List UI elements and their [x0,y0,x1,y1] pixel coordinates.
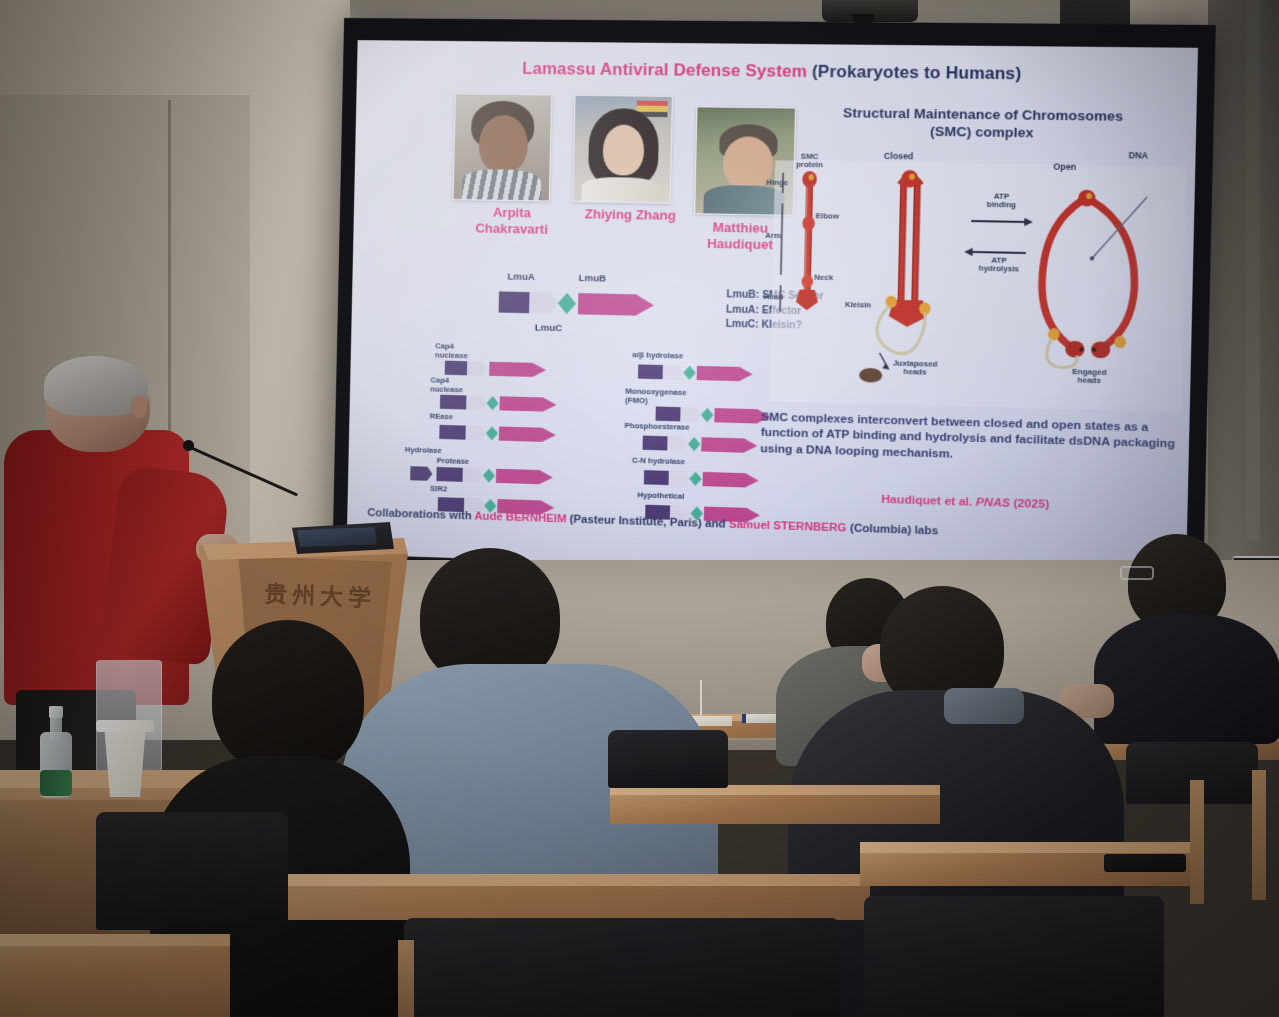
desk-row-edge [0,934,230,946]
presenter-laptop-screen [297,527,377,547]
chair-leg [398,940,414,1017]
operon-variants-left-column: Cap4nuclease Cap4nuclease [403,342,610,523]
speaker-ear [131,396,147,418]
desk-row [610,790,940,824]
citation-year: (2025) [1013,497,1049,512]
gene-label-lmuc: LmuC [535,322,563,334]
chair-leg [1190,780,1204,904]
collab-conjunction: and [705,518,729,531]
operon-variant-label: Phosphoesterase [624,422,689,432]
collab-lab2-affiliation: (Columbia) labs [850,522,939,537]
chair [864,896,1164,1017]
smc-label-atp-hydrolysis: ATPhydrolysis [966,256,1032,275]
chair [96,812,288,930]
slide-citation: Haudiquet et al. PNAS (2025) [759,489,1175,515]
chair [404,918,840,1017]
coffee-cup-lid [96,720,154,732]
operon-variant-label-hydrolase: Hydrolase [405,446,442,456]
smc-label-closed: Closed [884,152,914,162]
smc-label-neck: Neck [814,274,833,283]
right-wall-stripe [1246,0,1260,540]
audience-torso [1094,614,1279,744]
operon-variant-label: Cap4nuclease [430,376,463,394]
gene-segment-lmuc [558,293,577,315]
operon-variant-row: REase [405,410,608,450]
gene-segment-lmua-dark [499,291,530,313]
smc-label-juxtaposed-heads: Juxtaposedheads [885,359,944,378]
operon-variant-label: α/β hydrolase [632,351,683,361]
citation-journal: PNAS [976,495,1011,509]
collab-lab1: Aude BERNHEIM [474,510,566,525]
operon-variant-label: SIR2 [430,485,447,494]
slide-title: Lamassu Antiviral Defense System (Prokar… [357,58,1198,86]
audience-head [212,620,364,774]
lamassu-operon-diagram: LmuA LmuB LmuC [492,271,708,343]
desk-row-edge [860,842,1190,853]
smc-label-head: Head [764,293,784,302]
audience-collar [944,688,1024,724]
smc-label-dna: DNA [1129,151,1149,161]
smc-diagram-svg [761,146,1195,423]
smc-label-engaged-heads: Engagedheads [1059,368,1119,387]
chair-leg [1252,770,1266,900]
drinking-straw [700,680,702,718]
bottle-cap [49,706,63,718]
gene-segment-lmua-light [529,292,558,314]
operon-variant-label: C-N hydrolase [632,457,685,467]
smc-diagram-title: Structural Maintenance of Chromosomes (S… [771,103,1196,144]
operon-variant-label: Cap4nuclease [435,342,468,360]
podium-inscription: 贵州大学 [263,575,415,626]
gene-label-lmua: LmuA [507,271,535,283]
smc-label-smc-protein: SMCprotein [785,152,833,170]
headshot-photo-group [452,93,803,210]
smc-label-atp-binding: ATPbinding [971,192,1031,210]
slide-body-paragraph: SMC complexes interconvert between close… [760,409,1176,468]
desk-tablet [1104,854,1186,872]
right-wall-dark-panel [1208,0,1279,560]
smc-label-kleisin: Kleisin [845,301,871,310]
desk-row [0,940,230,1017]
collab-prefix: Collaborations with [367,507,474,522]
operon-variant-row: Cap4nuclease [406,376,609,416]
citation-authors: Haudiquet et al. [881,493,972,509]
operon-variant-row: Hydrolase Protease [404,444,608,488]
headshot-photo [453,93,553,201]
operon-variant-label: Protease [437,457,470,467]
operon-variant-label: Hypothetical [637,491,684,501]
audience-glasses [1120,566,1154,580]
slide-content: Lamassu Antiviral Defense System (Prokar… [346,40,1198,583]
water-bottle [40,706,72,798]
operon-variant-label: Monooxygenase(FMO) [625,387,687,406]
microphone-head [183,440,194,451]
slide-title-navy: (Prokaryotes to Humans) [812,63,1022,84]
smc-label-elbow: Elbow [815,212,839,221]
bottle-label [40,770,72,796]
slide-title-pink: Lamassu Antiviral Defense System [522,60,807,81]
headshot-photo [572,95,673,204]
gene-label-lmub: LmuB [579,273,607,285]
smc-complex-diagram: SMCprotein Hinge Elbow Arm Neck Head Clo… [761,146,1195,423]
gene-segment-lmub [578,293,654,316]
smc-label-hinge: Hinge [766,179,788,188]
smc-label-arm: Arm [765,232,781,241]
desk-nameplate [742,714,776,723]
collaborator-name: Arpita Chakravarti [456,204,568,238]
chair [608,730,728,788]
operon-variant-label: REase [430,413,454,422]
projection-screen: Lamassu Antiviral Defense System (Prokar… [332,18,1216,614]
smc-label-open: Open [1053,162,1076,172]
collaborator-name: Zhiying Zhang [574,206,687,224]
collab-lab2: Samuel STERNBERG [729,519,847,535]
lecture-hall-photo: CiMR 中国科学院 Lamassu Antiviral Defense Sys… [0,0,1279,1017]
